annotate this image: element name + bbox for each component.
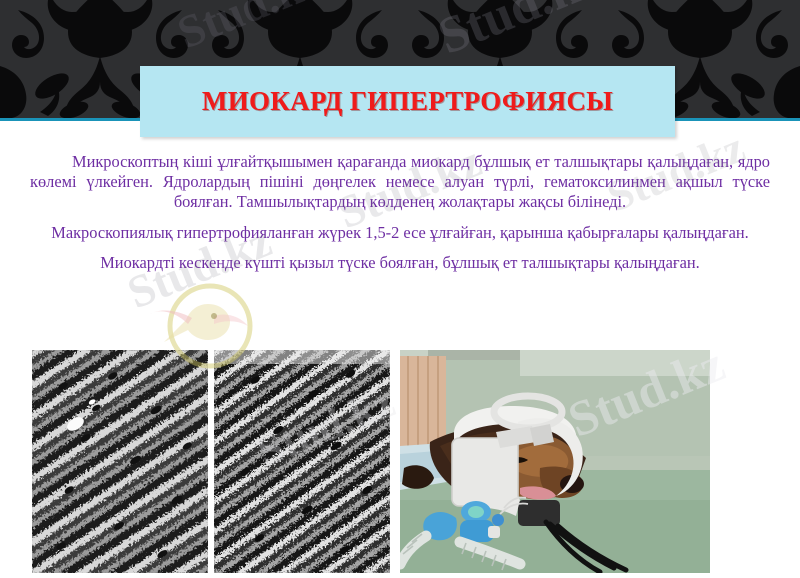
anesthetized-dog-photo xyxy=(400,350,710,573)
slide-body-text: Микроскоптың кіші ұлғайтқышымен қарағанд… xyxy=(30,152,770,280)
micrograph-pair xyxy=(32,350,390,573)
micrograph-right-image xyxy=(214,350,390,573)
paragraph-1: Микроскоптың кіші ұлғайтқышымен қарағанд… xyxy=(30,152,770,212)
paragraph-3: Миокардті кескенде күшті қызыл түске боя… xyxy=(30,253,770,273)
dog-ventilator-scene-icon xyxy=(400,350,710,573)
presentation-slide: МИОКАРД ГИПЕРТРОФИЯСЫ Микроскоптың кіші … xyxy=(0,0,800,578)
slide-title-plate: МИОКАРД ГИПЕРТРОФИЯСЫ xyxy=(140,66,675,137)
page-title: МИОКАРД ГИПЕРТРОФИЯСЫ xyxy=(202,86,613,117)
histology-fibers-left-icon xyxy=(32,350,208,573)
paragraph-2: Макроскопиялық гипертрофияланған жүрек 1… xyxy=(30,223,770,243)
slide-image-row xyxy=(0,350,800,574)
histology-fibers-right-icon xyxy=(214,350,390,573)
micrograph-left-image xyxy=(32,350,208,573)
